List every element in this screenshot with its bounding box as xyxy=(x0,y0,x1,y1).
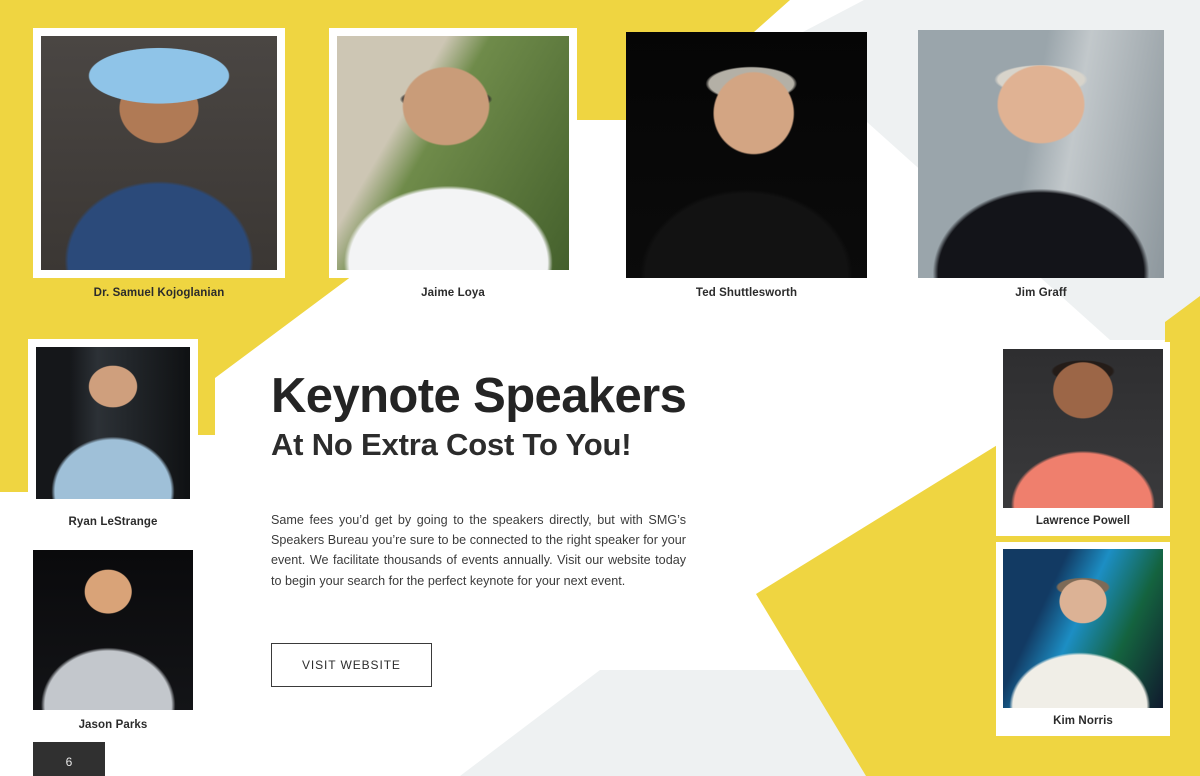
photo-frame xyxy=(33,550,193,710)
photo-frame xyxy=(996,542,1170,708)
speaker-name-label: Jaime Loya xyxy=(329,278,577,299)
speaker-card-norris[interactable]: Kim Norris xyxy=(996,542,1170,736)
hero-content: Keynote Speakers At No Extra Cost To You… xyxy=(271,372,701,687)
speaker-card-lestrange[interactable]: Ryan LeStrange xyxy=(28,339,198,528)
page-number-badge: 6 xyxy=(33,742,105,776)
visit-website-button[interactable]: VISIT WEBSITE xyxy=(271,643,432,687)
body-paragraph: Same fees you’d get by going to the spea… xyxy=(271,510,686,592)
photo-frame xyxy=(626,32,867,278)
speaker-portrait-image xyxy=(918,30,1164,278)
speaker-portrait-image xyxy=(1003,549,1163,708)
speaker-portrait-image xyxy=(41,36,277,270)
speaker-card-powell[interactable]: Lawrence Powell xyxy=(996,342,1170,536)
speaker-name-label: Ryan LeStrange xyxy=(28,507,198,528)
speaker-name-label: Jim Graff xyxy=(918,278,1164,299)
speaker-portrait-image xyxy=(337,36,569,270)
speaker-portrait-image xyxy=(36,347,190,499)
photo-frame xyxy=(28,339,198,507)
speaker-portrait-image xyxy=(1003,349,1163,508)
speaker-card-graff[interactable]: Jim Graff xyxy=(918,30,1164,299)
photo-frame xyxy=(996,342,1170,508)
speaker-name-label: Dr. Samuel Kojoglanian xyxy=(33,278,285,299)
speaker-portrait-image xyxy=(33,550,193,710)
page-subtitle: At No Extra Cost To You! xyxy=(271,421,701,463)
speaker-portrait-image xyxy=(626,32,867,278)
speaker-card-kojoglanian[interactable]: Dr. Samuel Kojoglanian xyxy=(33,28,285,299)
speaker-name-label: Ted Shuttlesworth xyxy=(626,278,867,299)
page-title: Keynote Speakers xyxy=(271,372,701,421)
speaker-name-label: Jason Parks xyxy=(33,710,193,731)
speaker-name-label: Kim Norris xyxy=(996,708,1170,736)
photo-frame xyxy=(33,28,285,278)
photo-frame xyxy=(918,30,1164,278)
speaker-card-loya[interactable]: Jaime Loya xyxy=(329,28,577,299)
speaker-card-shuttlesworth[interactable]: Ted Shuttlesworth xyxy=(626,32,867,299)
speaker-name-label: Lawrence Powell xyxy=(996,508,1170,536)
slide-canvas: Dr. Samuel Kojoglanian Jaime Loya Ted Sh… xyxy=(0,0,1200,776)
photo-frame xyxy=(329,28,577,278)
speaker-card-parks[interactable]: Jason Parks xyxy=(33,550,193,731)
